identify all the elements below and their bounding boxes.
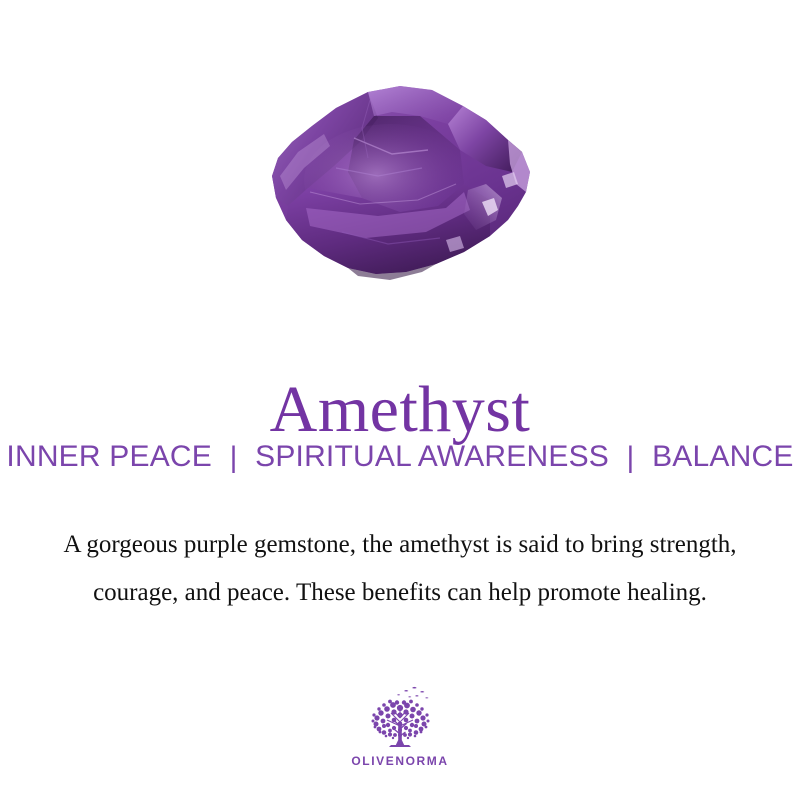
keyword-balance: BALANCE	[652, 440, 793, 473]
birds-icon	[397, 687, 429, 699]
hero-image-container	[0, 62, 800, 312]
tree-with-birds-icon	[357, 682, 443, 752]
page-title: Amethyst	[0, 376, 800, 445]
keyword-list: INNER PEACE | SPIRITUAL AWARENESS | BALA…	[0, 440, 800, 474]
keyword-inner-peace: INNER PEACE	[6, 440, 212, 473]
product-description: A gorgeous purple gemstone, the amethyst…	[50, 521, 750, 617]
keyword-separator-1: |	[221, 441, 247, 475]
product-info-card: Amethyst INNER PEACE | SPIRITUAL AWARENE…	[0, 0, 800, 800]
brand-name: OLIVENORMA	[351, 754, 448, 768]
keyword-separator-2: |	[618, 441, 644, 475]
keyword-spiritual-awareness: SPIRITUAL AWARENESS	[255, 440, 609, 473]
raw-amethyst-crystal-icon	[250, 80, 550, 295]
amethyst-crystal-image	[250, 80, 550, 295]
brand-logo: OLIVENORMA	[0, 682, 800, 768]
